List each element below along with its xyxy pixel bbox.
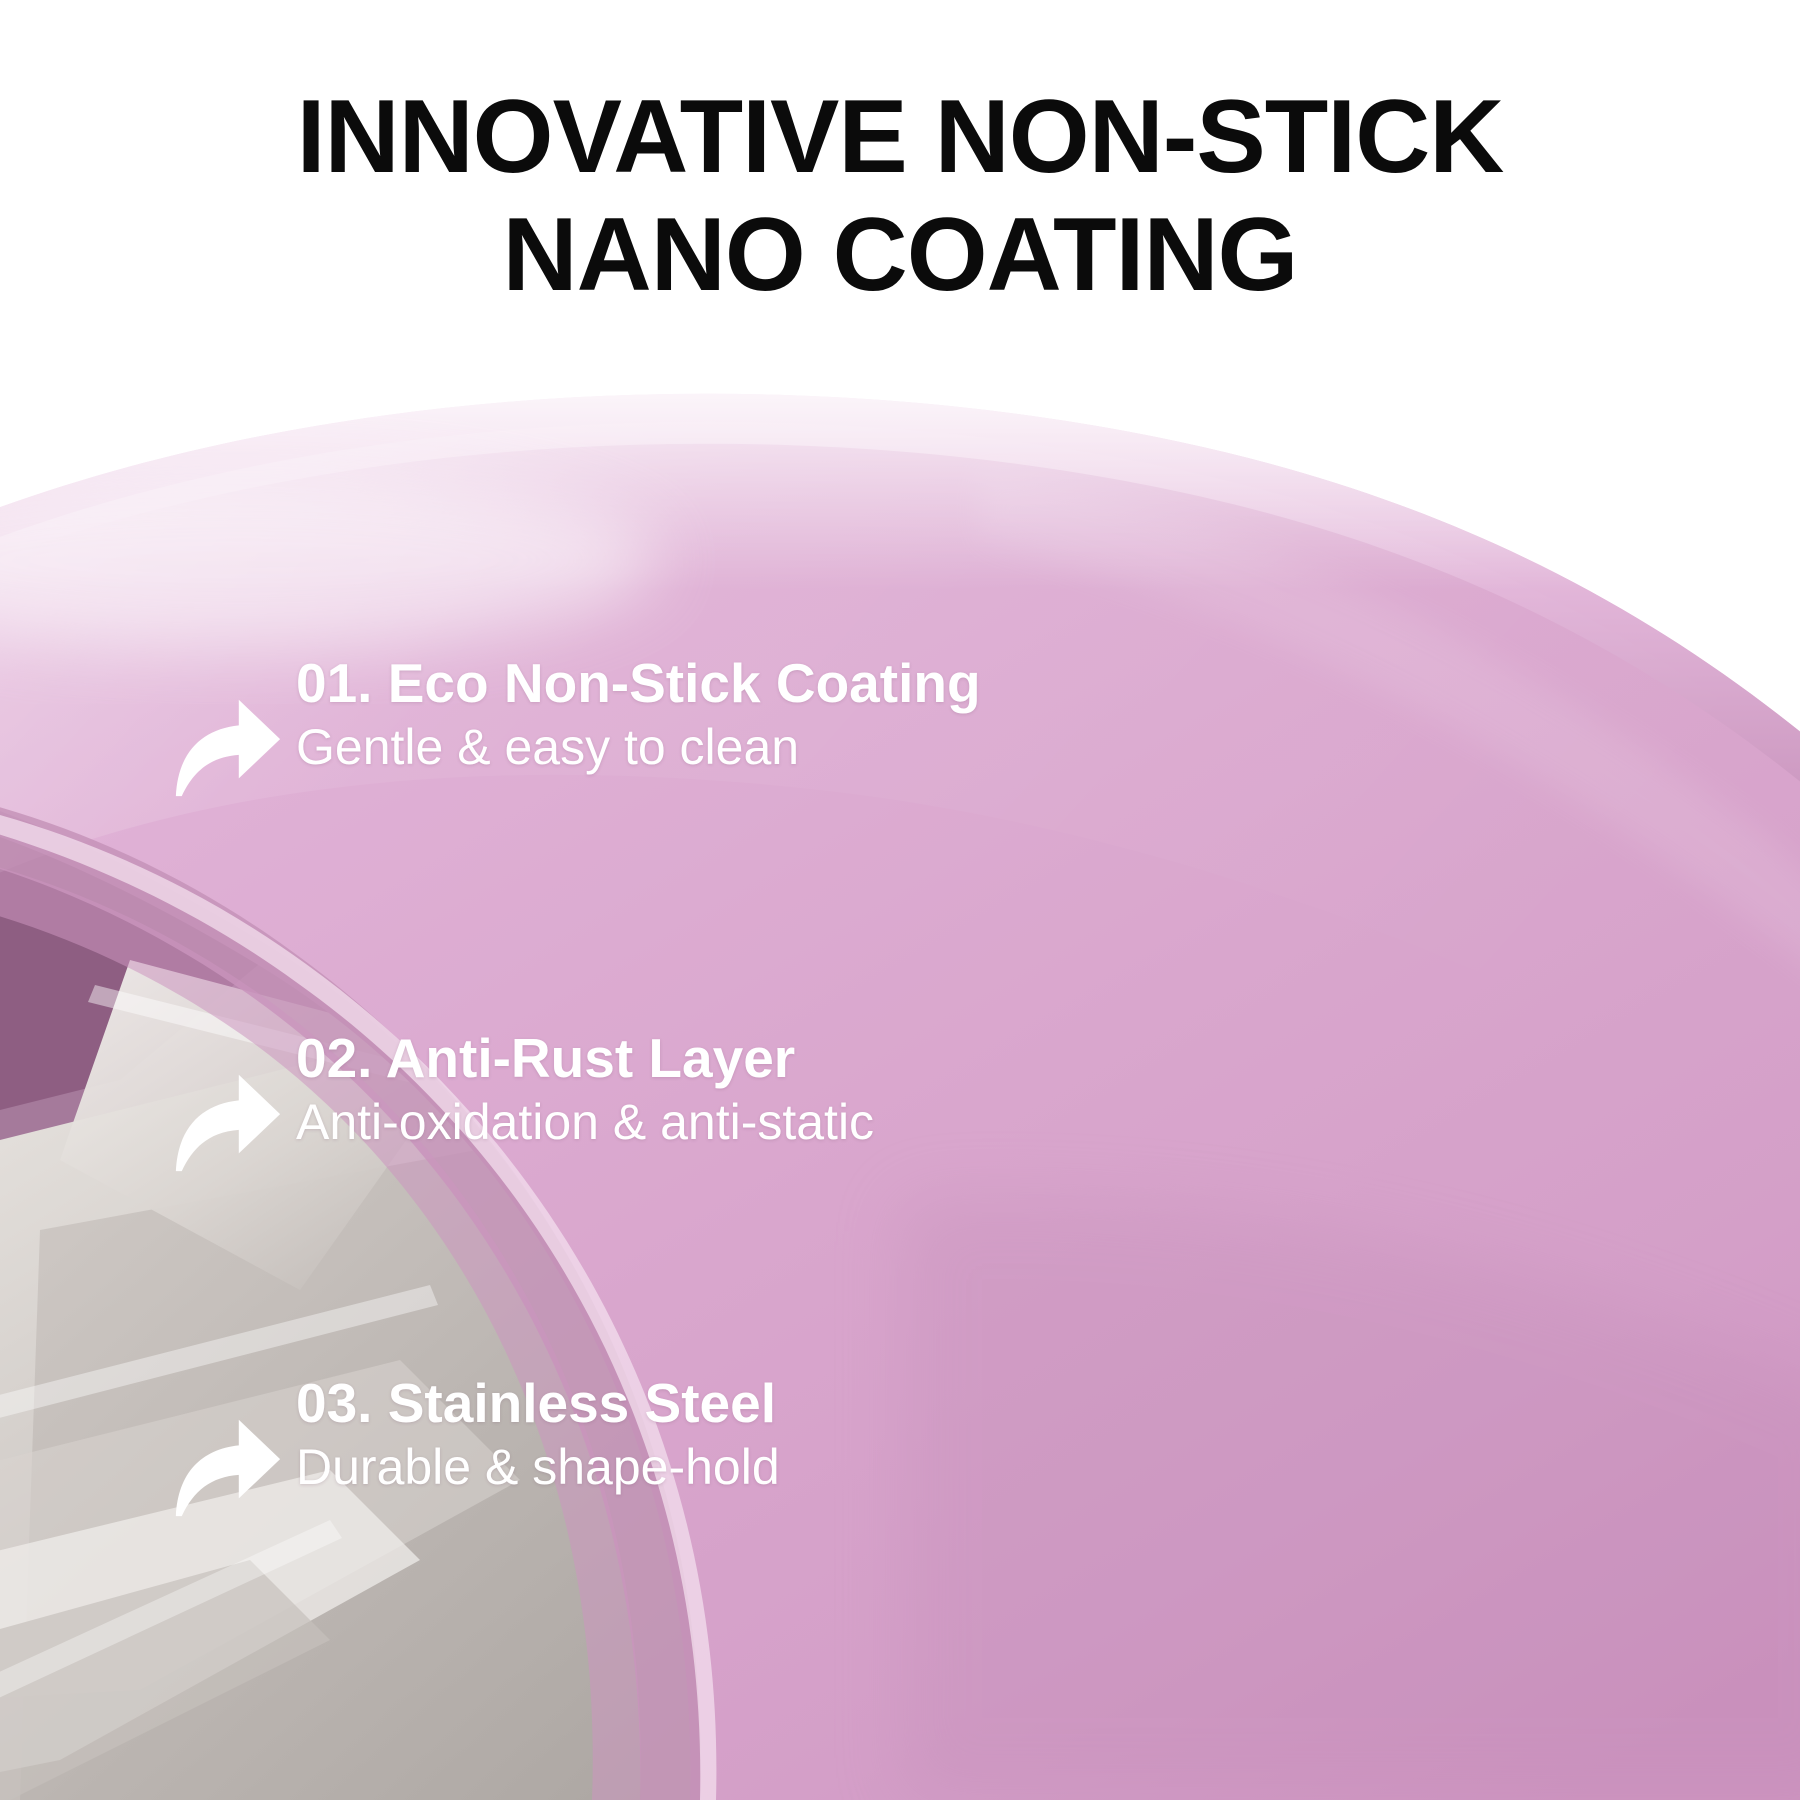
curved-arrow-right-icon [168,686,286,804]
feature-item-1: 01. Eco Non-Stick Coating Gentle & easy … [168,650,981,804]
curved-arrow-right-icon [168,1406,286,1524]
feature-title-1: 01. Eco Non-Stick Coating [296,650,981,716]
feature-title-3: 03. Stainless Steel [296,1370,780,1436]
infographic-canvas: INNOVATIVE NON-STICK NANO COATING 01. Ec… [0,0,1800,1800]
feature-text-2: 02. Anti-Rust Layer Anti-oxidation & ant… [296,1025,874,1153]
page-title-line-2: NANO COATING [0,196,1800,314]
feature-subtitle-1: Gentle & easy to clean [296,716,981,778]
feature-text-1: 01. Eco Non-Stick Coating Gentle & easy … [296,650,981,778]
feature-title-2: 02. Anti-Rust Layer [296,1025,874,1091]
feature-subtitle-2: Anti-oxidation & anti-static [296,1091,874,1153]
feature-item-3: 03. Stainless Steel Durable & shape-hold [168,1370,780,1524]
feature-text-3: 03. Stainless Steel Durable & shape-hold [296,1370,780,1498]
feature-item-2: 02. Anti-Rust Layer Anti-oxidation & ant… [168,1025,874,1179]
curved-arrow-right-icon [168,1061,286,1179]
feature-subtitle-3: Durable & shape-hold [296,1436,780,1498]
page-title-line-1: INNOVATIVE NON-STICK [0,78,1800,196]
page-title: INNOVATIVE NON-STICK NANO COATING [0,78,1800,314]
